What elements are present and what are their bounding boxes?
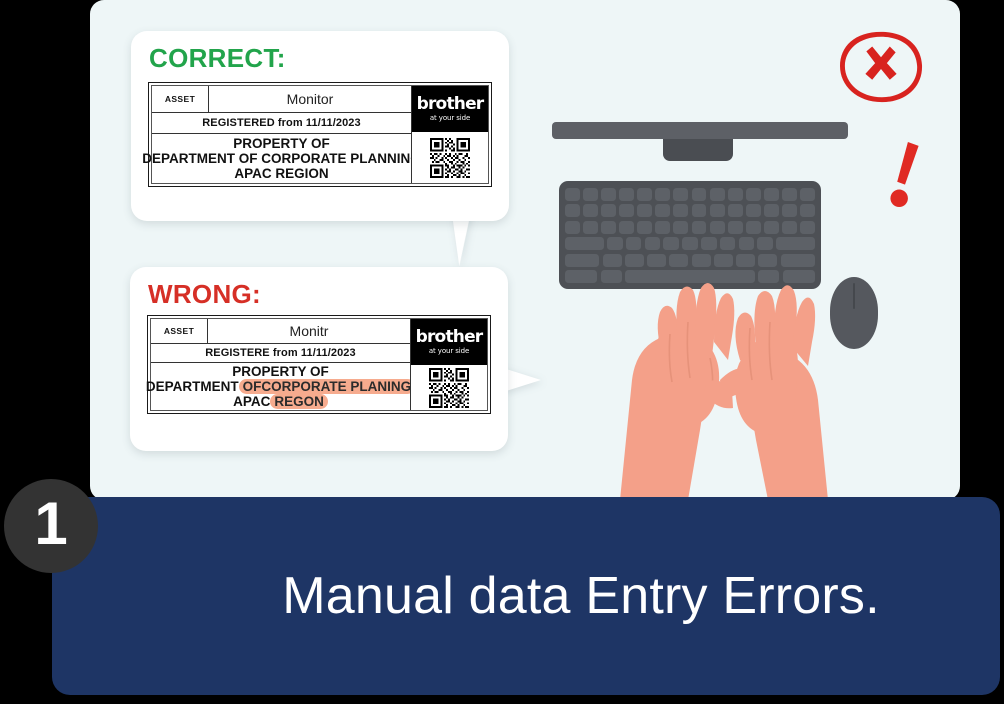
label-row-device: ASSET Monitor bbox=[152, 86, 411, 113]
key bbox=[764, 188, 779, 201]
asset-header: ASSET bbox=[152, 86, 209, 112]
key bbox=[782, 188, 797, 201]
keyboard-row bbox=[565, 188, 815, 201]
asset-label-correct: ASSET Monitor REGISTERED from 11/11/2023… bbox=[148, 82, 492, 187]
step-number-badge: 1 bbox=[4, 479, 98, 573]
key bbox=[619, 204, 634, 217]
key bbox=[782, 204, 797, 217]
key bbox=[764, 204, 779, 217]
bubble-correct: CORRECT: ASSET Monitor REGISTERED from 1… bbox=[131, 31, 509, 221]
registered-date: REGISTERED from 11/11/2023 bbox=[152, 113, 411, 134]
key bbox=[673, 188, 688, 201]
illustration-root: CORRECT: ASSET Monitor REGISTERED from 1… bbox=[0, 0, 1004, 704]
key bbox=[583, 188, 598, 201]
brother-tagline: at your side bbox=[430, 115, 470, 122]
key bbox=[728, 204, 743, 217]
error-highlight: OFCORPORATE PLANING bbox=[239, 379, 416, 394]
device-name: Monitr bbox=[208, 319, 410, 343]
bubble-title-correct: CORRECT: bbox=[149, 43, 286, 74]
key bbox=[565, 188, 580, 201]
typing-hands bbox=[560, 230, 900, 500]
key bbox=[583, 204, 598, 217]
brother-tagline: at your side bbox=[429, 348, 469, 355]
qr-code-icon bbox=[430, 138, 470, 178]
key bbox=[601, 188, 616, 201]
property-line: PROPERTY OF bbox=[232, 364, 329, 379]
keyboard-row bbox=[565, 204, 815, 217]
property-line: APAC REGION bbox=[234, 166, 328, 181]
property-line: DEPARTMENT OF CORPORATE PLANNING bbox=[142, 151, 421, 166]
brother-logo: brother at your side bbox=[411, 86, 488, 132]
key bbox=[692, 204, 707, 217]
property-line-with-error: APACREGON bbox=[233, 394, 328, 409]
key bbox=[800, 204, 815, 217]
property-line: PROPERTY OF bbox=[233, 136, 330, 151]
caption-text: Manual data Entry Errors. bbox=[52, 497, 1000, 695]
step-number: 1 bbox=[34, 494, 67, 554]
key bbox=[637, 204, 652, 217]
label-row-device: ASSET Monitr bbox=[151, 319, 410, 344]
monitor-screen bbox=[552, 122, 848, 139]
key bbox=[728, 188, 743, 201]
bubble-title-wrong: WRONG: bbox=[148, 279, 261, 310]
brother-wordmark: brother bbox=[416, 329, 483, 346]
brother-wordmark: brother bbox=[417, 96, 484, 113]
key bbox=[637, 188, 652, 201]
qr-code-icon bbox=[429, 368, 469, 408]
registered-date: REGISTERE from 11/11/2023 bbox=[151, 344, 410, 363]
qr-code-cell bbox=[411, 132, 488, 183]
key bbox=[673, 204, 688, 217]
asset-header: ASSET bbox=[151, 319, 208, 343]
asset-label-wrong: ASSET Monitr REGISTERE from 11/11/2023 P… bbox=[147, 315, 491, 414]
device-name: Monitor bbox=[209, 86, 411, 112]
brother-logo: brother at your side bbox=[410, 319, 487, 365]
property-line-with-error: DEPARTMENTOFCORPORATE PLANING bbox=[146, 379, 415, 394]
property-block: PROPERTY OF DEPARTMENT OF CORPORATE PLAN… bbox=[152, 134, 411, 183]
error-highlight: REGON bbox=[270, 394, 328, 409]
key bbox=[601, 204, 616, 217]
key bbox=[800, 188, 815, 201]
key bbox=[565, 204, 580, 217]
key bbox=[746, 188, 761, 201]
bubble-tail-wrong bbox=[503, 368, 541, 392]
property-line: DEPARTMENT bbox=[146, 379, 239, 394]
key bbox=[710, 188, 725, 201]
key bbox=[692, 188, 707, 201]
key bbox=[710, 204, 725, 217]
key bbox=[655, 204, 670, 217]
bubble-wrong: WRONG: ASSET Monitr REGISTERE from 11/11… bbox=[130, 267, 508, 451]
property-block: PROPERTY OF DEPARTMENTOFCORPORATE PLANIN… bbox=[151, 363, 410, 410]
caption-banner: Manual data Entry Errors. bbox=[52, 497, 1000, 695]
red-exclamation-icon bbox=[888, 140, 922, 208]
qr-code-cell bbox=[410, 365, 487, 410]
key bbox=[655, 188, 670, 201]
key bbox=[746, 204, 761, 217]
monitor-stand bbox=[663, 139, 733, 161]
key bbox=[619, 188, 634, 201]
red-circle-x-icon bbox=[832, 26, 930, 108]
property-line: APAC bbox=[233, 394, 270, 409]
